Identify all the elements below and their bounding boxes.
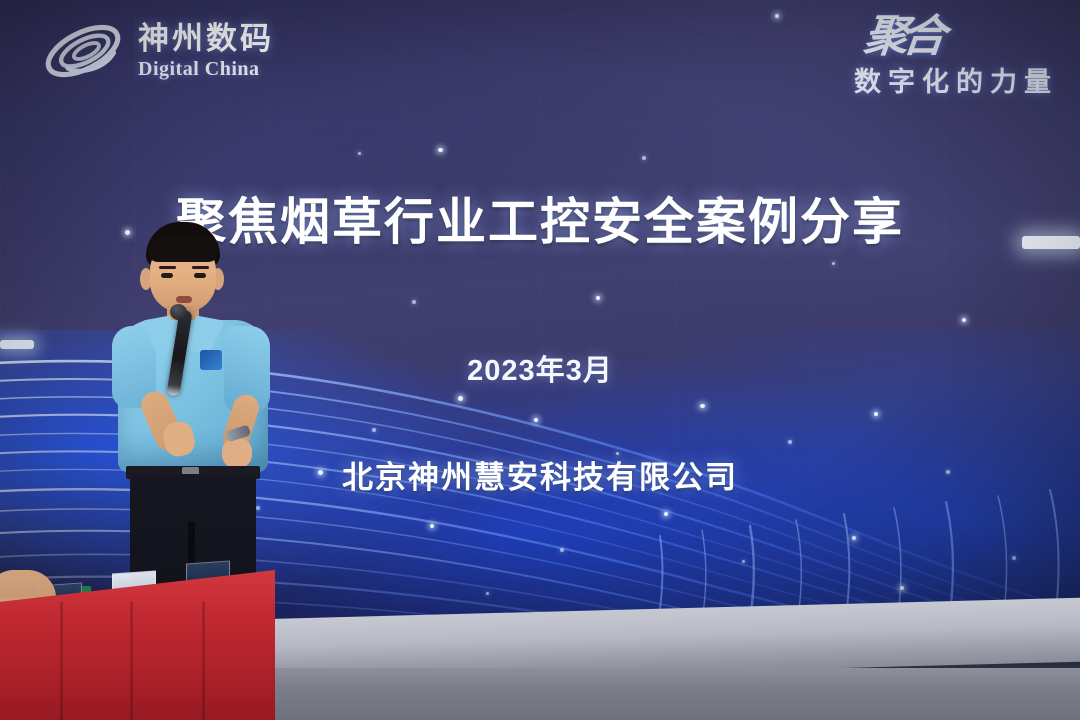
- speaker-mouth: [176, 296, 192, 303]
- speaker-eye-right: [194, 273, 206, 278]
- speaker-hand-right: [222, 438, 252, 468]
- speaker-brow-right: [192, 266, 209, 269]
- speaker-eye-left: [161, 273, 173, 278]
- stage-photo: 神州数码 Digital China 聚合 数字化的力量 聚焦烟草行业工控安全案…: [0, 0, 1080, 720]
- speaker-brow-left: [159, 266, 176, 269]
- speaker-hair-front: [148, 236, 218, 262]
- speaker-chest-logo: [200, 350, 222, 370]
